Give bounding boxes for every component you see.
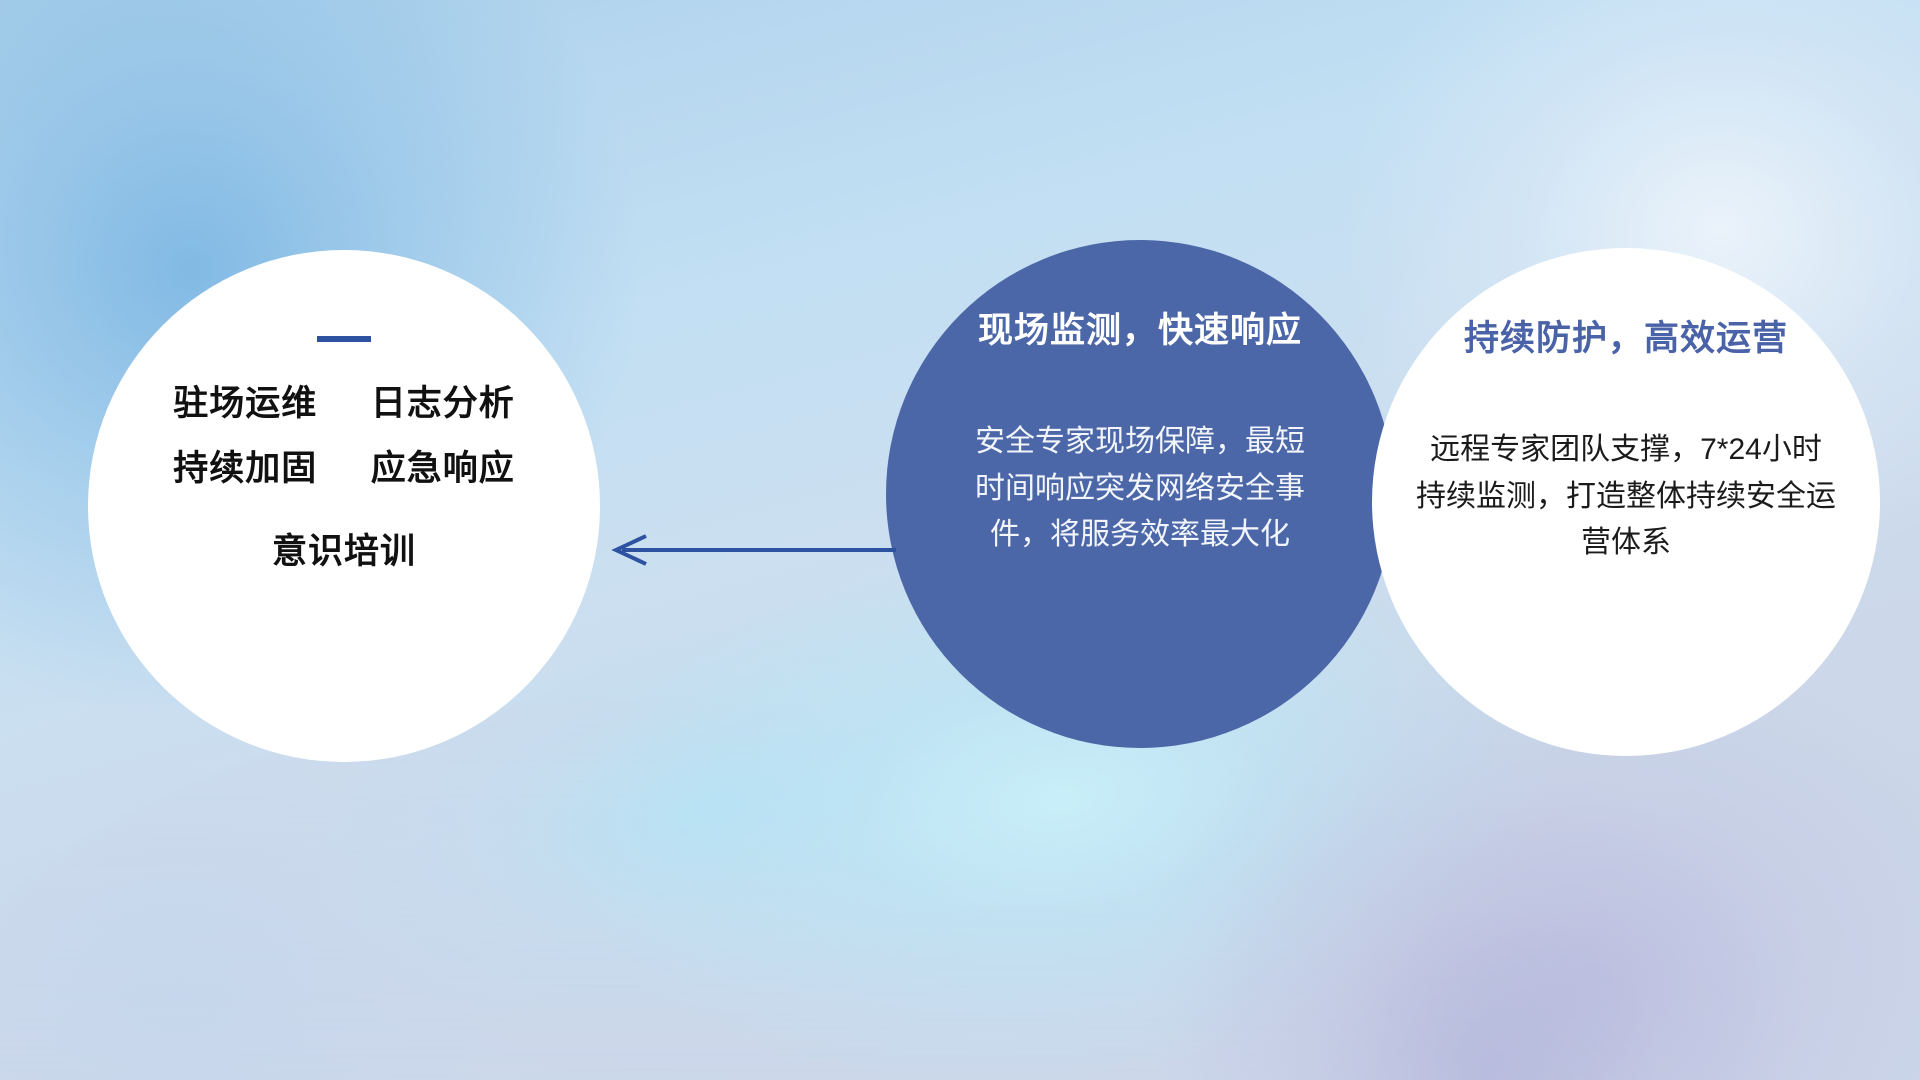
dash-divider-icon <box>317 336 371 342</box>
service-keyword: 意识培训 <box>272 532 416 571</box>
service-keyword: 驻场运维 <box>173 384 317 423</box>
service-keyword: 持续加固 <box>173 449 317 488</box>
continuous-protection-title: 持续防护，高效运营 <box>1464 310 1788 361</box>
onsite-monitoring-title: 现场监测，快速响应 <box>978 302 1302 353</box>
flow-arrow-left-icon <box>600 520 900 580</box>
background-glow-bottom-mid-right <box>1180 760 1800 1080</box>
service-keyword-row: 持续加固 应急响应 <box>173 451 515 488</box>
onsite-monitoring-circle[interactable]: 现场监测，快速响应 安全专家现场保障，最短时间响应突发网络安全事件，将服务效率最… <box>886 240 1394 748</box>
continuous-protection-circle[interactable]: 持续防护，高效运营 远程专家团队支撑，7*24小时持续监测，打造整体持续安全运营… <box>1372 248 1880 756</box>
onsite-monitoring-description: 安全专家现场保障，最短时间响应突发网络安全事件，将服务效率最大化 <box>970 419 1310 559</box>
service-keywords-circle[interactable]: 驻场运维 日志分析 持续加固 应急响应 意识培训 <box>88 250 600 762</box>
continuous-protection-description: 远程专家团队支撑，7*24小时持续监测，打造整体持续安全运营体系 <box>1416 427 1836 567</box>
service-keyword: 日志分析 <box>371 384 515 423</box>
service-keyword-row: 意识培训 <box>272 534 416 571</box>
slide-canvas: 驻场运维 日志分析 持续加固 应急响应 意识培训 现场监测，快速响应 安全专家现… <box>0 0 1920 1080</box>
service-keyword: 应急响应 <box>371 449 515 488</box>
service-keyword-row: 驻场运维 日志分析 <box>173 386 515 423</box>
